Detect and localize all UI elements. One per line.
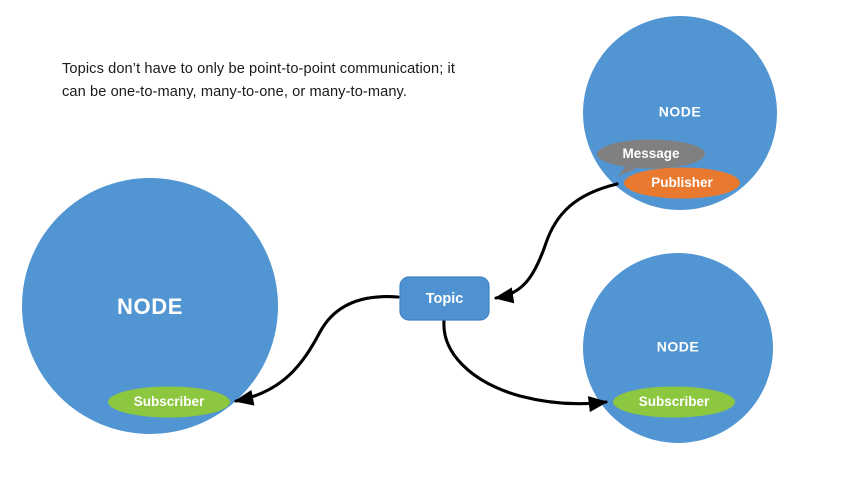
subscriber-node-left-label: NODE bbox=[117, 294, 183, 319]
subscriber-label-left: Subscriber bbox=[134, 394, 205, 409]
diagram-canvas: Topics don’t have to only be point-to-po… bbox=[0, 0, 854, 480]
publisher-label: Publisher bbox=[651, 175, 713, 190]
arrow-publisher-to-topic bbox=[496, 184, 617, 298]
diagram-graphic: NODE Message Publisher NODE Subscriber N… bbox=[0, 0, 854, 480]
message-label: Message bbox=[622, 146, 680, 161]
topic-box-group[interactable]: Topic bbox=[400, 277, 489, 320]
arrow-topic-to-subscriber-right bbox=[444, 321, 606, 404]
subscriber-pill-left-group[interactable]: Subscriber bbox=[108, 387, 230, 418]
subscriber-pill-right-group[interactable]: Subscriber bbox=[613, 387, 735, 418]
topic-label: Topic bbox=[426, 291, 464, 307]
publisher-pill-group[interactable]: Publisher bbox=[624, 168, 740, 199]
subscriber-label-right: Subscriber bbox=[639, 394, 710, 409]
publisher-node-label: NODE bbox=[659, 104, 701, 120]
subscriber-node-right-label: NODE bbox=[657, 339, 699, 355]
